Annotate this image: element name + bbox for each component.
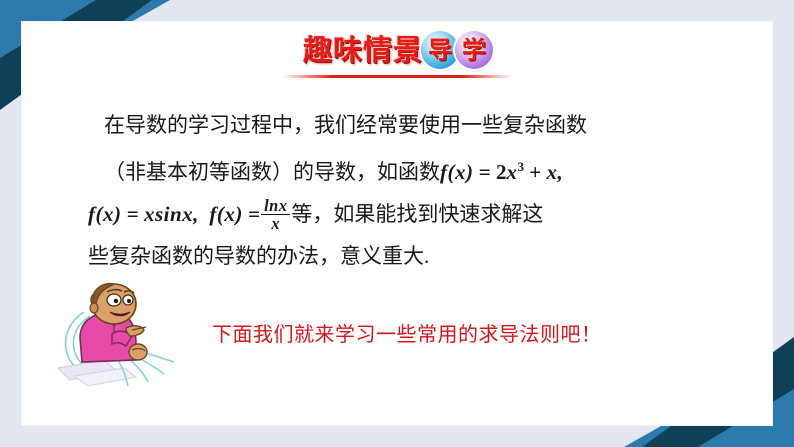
- body-line-2: （非基本初等函数）的导数，如函数f(x) = 2x3 + x,: [88, 146, 708, 193]
- formula-2-exponent: 3: [517, 159, 524, 174]
- body-line-4: 些复杂函数的导数的办法，意义重大.: [88, 235, 708, 277]
- formula-2-tail: x,: [546, 160, 563, 184]
- body-line-2-prefix: （非基本初等函数）的导数，如函数: [104, 160, 440, 184]
- slide-canvas: 趣味情景导学 在导数的学习过程中，我们经常要使用一些复杂函数 （非基本初等函数）…: [0, 0, 794, 447]
- formula-2-plus: +: [529, 160, 541, 184]
- body-paragraph: 在导数的学习过程中，我们经常要使用一些复杂函数 （非基本初等函数）的导数，如函数…: [88, 104, 708, 277]
- formula-2-equals: =: [479, 160, 491, 184]
- formula-3-fraction-numerator: lnx: [261, 197, 290, 214]
- formula-3-fraction: lnxx: [261, 197, 290, 232]
- formula-3-f1-fx: f(x): [88, 202, 121, 226]
- formula-3-fraction-denominator: x: [261, 214, 290, 232]
- formula-2-coefficient: 2: [496, 160, 507, 184]
- cartoon-figure-svg: [52, 282, 202, 394]
- title-underline: [282, 75, 512, 78]
- title-badge-purple: 学: [455, 31, 493, 69]
- body-line-3: f(x) = xsinx, f(x) =lnxx等，如果能找到快速求解这: [88, 193, 708, 235]
- cartoon-teacher-pointing-illustration: [52, 282, 202, 394]
- formula-2-variable: x: [506, 160, 517, 184]
- body-line-4-text: 些复杂函数的导数的办法，意义重大.: [88, 244, 429, 268]
- formula-3-f2-equals: =: [248, 202, 260, 226]
- formula-3-f2-fx: f(x): [209, 202, 242, 226]
- page-title: 趣味情景: [303, 30, 423, 70]
- call-to-action-text: 下面我们就来学习一些常用的求导法则吧！: [212, 318, 602, 347]
- formula-3-f1-expression: xsinx,: [144, 202, 199, 226]
- formula-2-fx: f(x): [440, 160, 473, 184]
- body-line-1-text: 在导数的学习过程中，我们经常要使用一些复杂函数: [104, 113, 587, 137]
- formula-3-f1-equals: =: [127, 202, 139, 226]
- title-banner: 趣味情景导学: [0, 30, 794, 82]
- body-line-3-suffix: 等，如果能找到快速求解这: [291, 202, 543, 226]
- title-badge-blue: 导: [421, 31, 459, 69]
- body-line-1: 在导数的学习过程中，我们经常要使用一些复杂函数: [88, 104, 708, 146]
